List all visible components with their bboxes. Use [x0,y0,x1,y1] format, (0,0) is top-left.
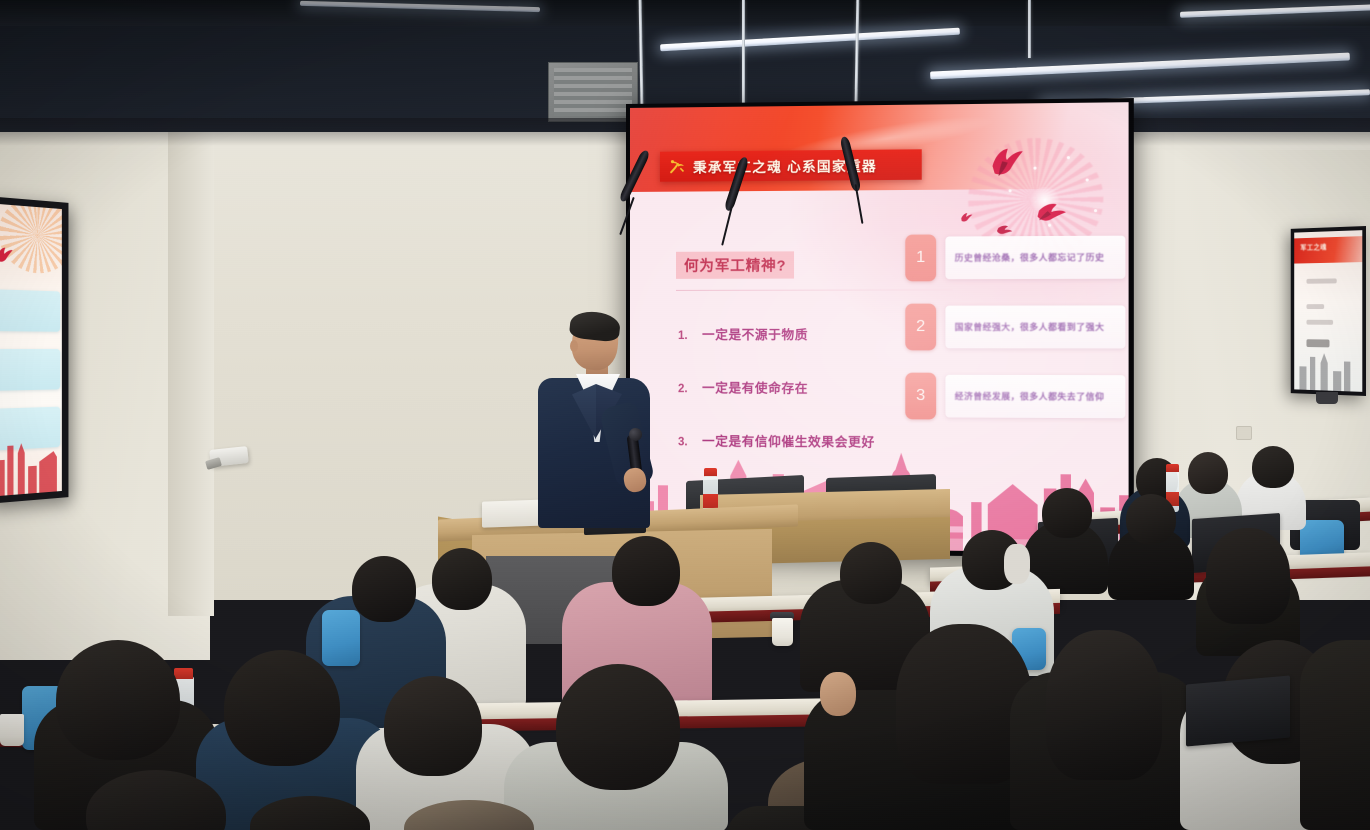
party-emblem-hammer-sickle-icon [668,157,687,175]
card-badge: 2 [905,304,936,351]
wall-socket [1236,426,1252,440]
sparkle [1067,156,1070,159]
bullet-text: 一定是有使命存在 [702,377,808,396]
coffee-cup [772,618,793,646]
ceiling-vent [548,62,638,122]
wall-display-right-screen: 军工之魂 [1294,230,1362,392]
bottle-cap [174,668,193,679]
coffee-cup [0,714,24,746]
presenter [520,300,660,540]
city-skyline-graphic [1294,345,1362,392]
bottle-cap [1166,464,1179,472]
attendee-glasses [1004,544,1030,584]
dove-icon [959,211,974,224]
wall-display-left-screen [0,204,62,497]
attendee-head [224,650,340,766]
wall-display-right: 军工之魂 [1291,226,1366,396]
attendee-head [1252,446,1294,488]
attendee-head [1126,494,1176,544]
hanging-rod [1028,0,1031,58]
attendee-head [384,676,482,776]
poster-card [0,349,60,391]
lecture-hall-photo: 秉承军工之魂 心系国家重器 [0,0,1370,830]
left-wall-corner [168,96,214,616]
sunburst-graphic [0,204,62,275]
card-text: 经济曾经发展，很多人都失去了信仰 [955,390,1105,403]
sparkle [1033,167,1036,170]
sparkle [1086,178,1089,181]
poster-card [0,289,60,331]
card-badge: 1 [905,235,936,282]
wall-display-left [0,196,68,504]
attendee-head [840,542,902,604]
bullet-text: 一定是不源于物质 [702,324,808,343]
bullet-number: 2. [678,383,691,395]
laptop [1186,675,1290,746]
card-text: 历史曾经沧桑，很多人都忘记了历史 [955,251,1105,264]
bullet-number: 1. [678,330,691,342]
poster-text-line [1306,278,1336,283]
attendee-head [1046,630,1162,780]
chair [322,610,360,666]
card-body: 经济曾经发展，很多人都失去了信仰 [945,375,1125,419]
ceiling-light-strip [660,28,960,52]
display-mount-bracket [1316,392,1338,404]
card-item: 2 国家曾经强大，很多人都看到了强大 [905,303,1125,350]
card-badge: 3 [905,373,936,420]
attendee-head [612,536,680,606]
card-item: 1 历史曾经沧桑，很多人都忘记了历史 [905,234,1125,282]
ceiling-band [0,0,1370,26]
presenter-ear [570,340,578,352]
sparkle [1094,209,1097,212]
banner-ribbon: 秉承军工之魂 心系国家重器 [660,149,922,181]
poster-header-text: 军工之魂 [1300,242,1327,253]
poster-text-line [1306,320,1333,325]
attendee-body [1300,640,1370,830]
attendee-head [352,556,416,622]
attendee-hand [820,672,856,716]
card-body: 国家曾经强大，很多人都看到了强大 [945,305,1125,348]
slide-title: 何为军工精神? [676,251,794,279]
attendee-long-hair [1206,528,1290,624]
sparkle [1009,189,1012,192]
attendee-head [1188,452,1228,494]
attendee-head [56,640,180,760]
card-text: 国家曾经强大，很多人都看到了强大 [955,321,1105,333]
attendee-head [556,664,680,790]
attendee-head [432,548,492,610]
attendee-head [1042,488,1092,538]
card-body: 历史曾经沧桑，很多人都忘记了历史 [945,236,1125,280]
card-item: 3 经济曾经发展，很多人都失去了信仰 [905,373,1125,421]
poster-text-line [1306,304,1324,309]
slide-card-list: 1 历史曾经沧桑，很多人都忘记了历史 2 国家曾经强大，很多人都看到了强大 3 … [905,234,1125,443]
ceiling-light-strip [930,52,1350,79]
city-skyline-graphic [0,422,62,497]
